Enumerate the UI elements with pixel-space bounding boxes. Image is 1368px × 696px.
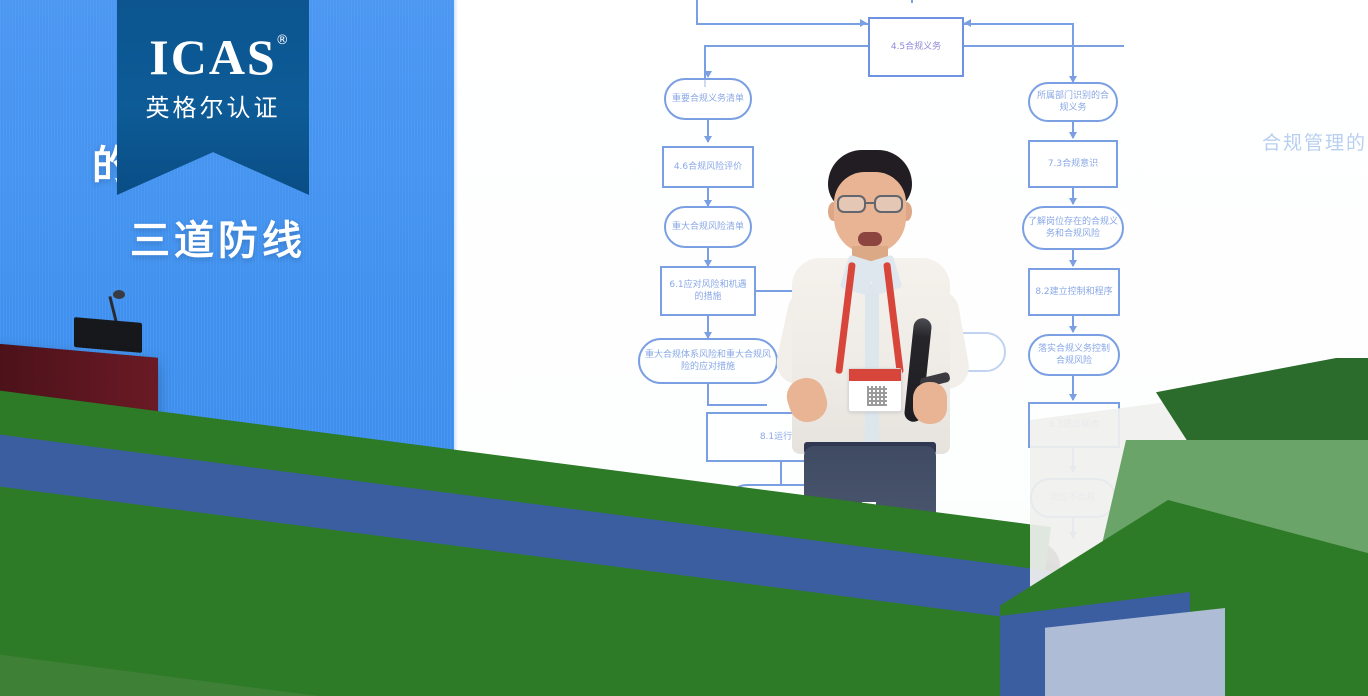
flow-edge	[696, 0, 698, 23]
slide-headline: 合规管理的三道防线	[1262, 128, 1368, 155]
flow-edge	[707, 384, 709, 406]
flow-arrow	[704, 71, 712, 78]
flow-node-4-6: 4.6合规风险评价	[662, 146, 754, 188]
flow-arrow	[1069, 198, 1077, 205]
flow-node-implement-control: 落实合规义务控制合规风险	[1028, 334, 1120, 376]
screenshot-stage: 合规管理的三道防线 4.5合规义务 重要合规义务清单 4.6合规风险评价 重大合…	[0, 0, 1368, 696]
glasses-right-lens	[874, 195, 903, 213]
icas-wordmark: ICAS®	[149, 32, 276, 82]
flow-arrow	[704, 136, 712, 143]
flow-edge	[964, 23, 1074, 25]
flow-edge	[964, 45, 1124, 47]
registered-trademark-icon: ®	[276, 34, 291, 47]
flow-node-major-risk-list: 重大合规风险清单	[664, 206, 752, 248]
glasses-bridge	[866, 202, 874, 204]
flow-arrow	[1069, 260, 1077, 267]
flow-edge	[704, 45, 868, 47]
flow-node-4-5: 4.5合规义务	[868, 17, 964, 77]
speaker-shirt-placket	[865, 284, 879, 444]
glasses-left-lens	[837, 195, 866, 213]
flow-node-obligation-list: 重要合规义务清单	[664, 78, 752, 120]
flow-node-major-measures: 重大合规体系风险和重大合规风险的应对措施	[638, 338, 778, 384]
flow-arrow	[1069, 394, 1077, 401]
icas-chinese-name: 英格尔认证	[146, 88, 281, 123]
flow-arrow	[1069, 326, 1077, 333]
badge-header-band	[849, 369, 901, 381]
flow-node-dept-obligations: 所属部门识别的合规义务	[1028, 82, 1118, 122]
flow-edge	[911, 0, 913, 3]
flow-node-7-3: 7.3合规意识	[1028, 140, 1118, 188]
wall-banner-title-bottom: 三道防线	[130, 208, 306, 266]
flow-node-6-1: 6.1应对风险和机遇的措施	[660, 266, 756, 316]
flow-arrow	[964, 19, 971, 27]
flow-node-post-awareness: 了解岗位存在的合规义务和合规风险	[1022, 206, 1124, 250]
flow-edge	[696, 23, 868, 25]
speaker-right-hand	[913, 382, 947, 424]
speaker-mouth	[858, 232, 882, 246]
speaker-badge	[848, 368, 902, 412]
flow-node-8-2: 8.2建立控制和程序	[1028, 268, 1120, 316]
podium-microphone-head	[113, 290, 125, 299]
flow-arrow	[860, 19, 867, 27]
badge-qr-code	[867, 386, 887, 406]
podium-top-panel	[74, 317, 142, 353]
flow-arrow	[1069, 132, 1077, 139]
flow-edge	[707, 404, 767, 406]
icas-wordmark-text: ICAS	[149, 29, 276, 85]
